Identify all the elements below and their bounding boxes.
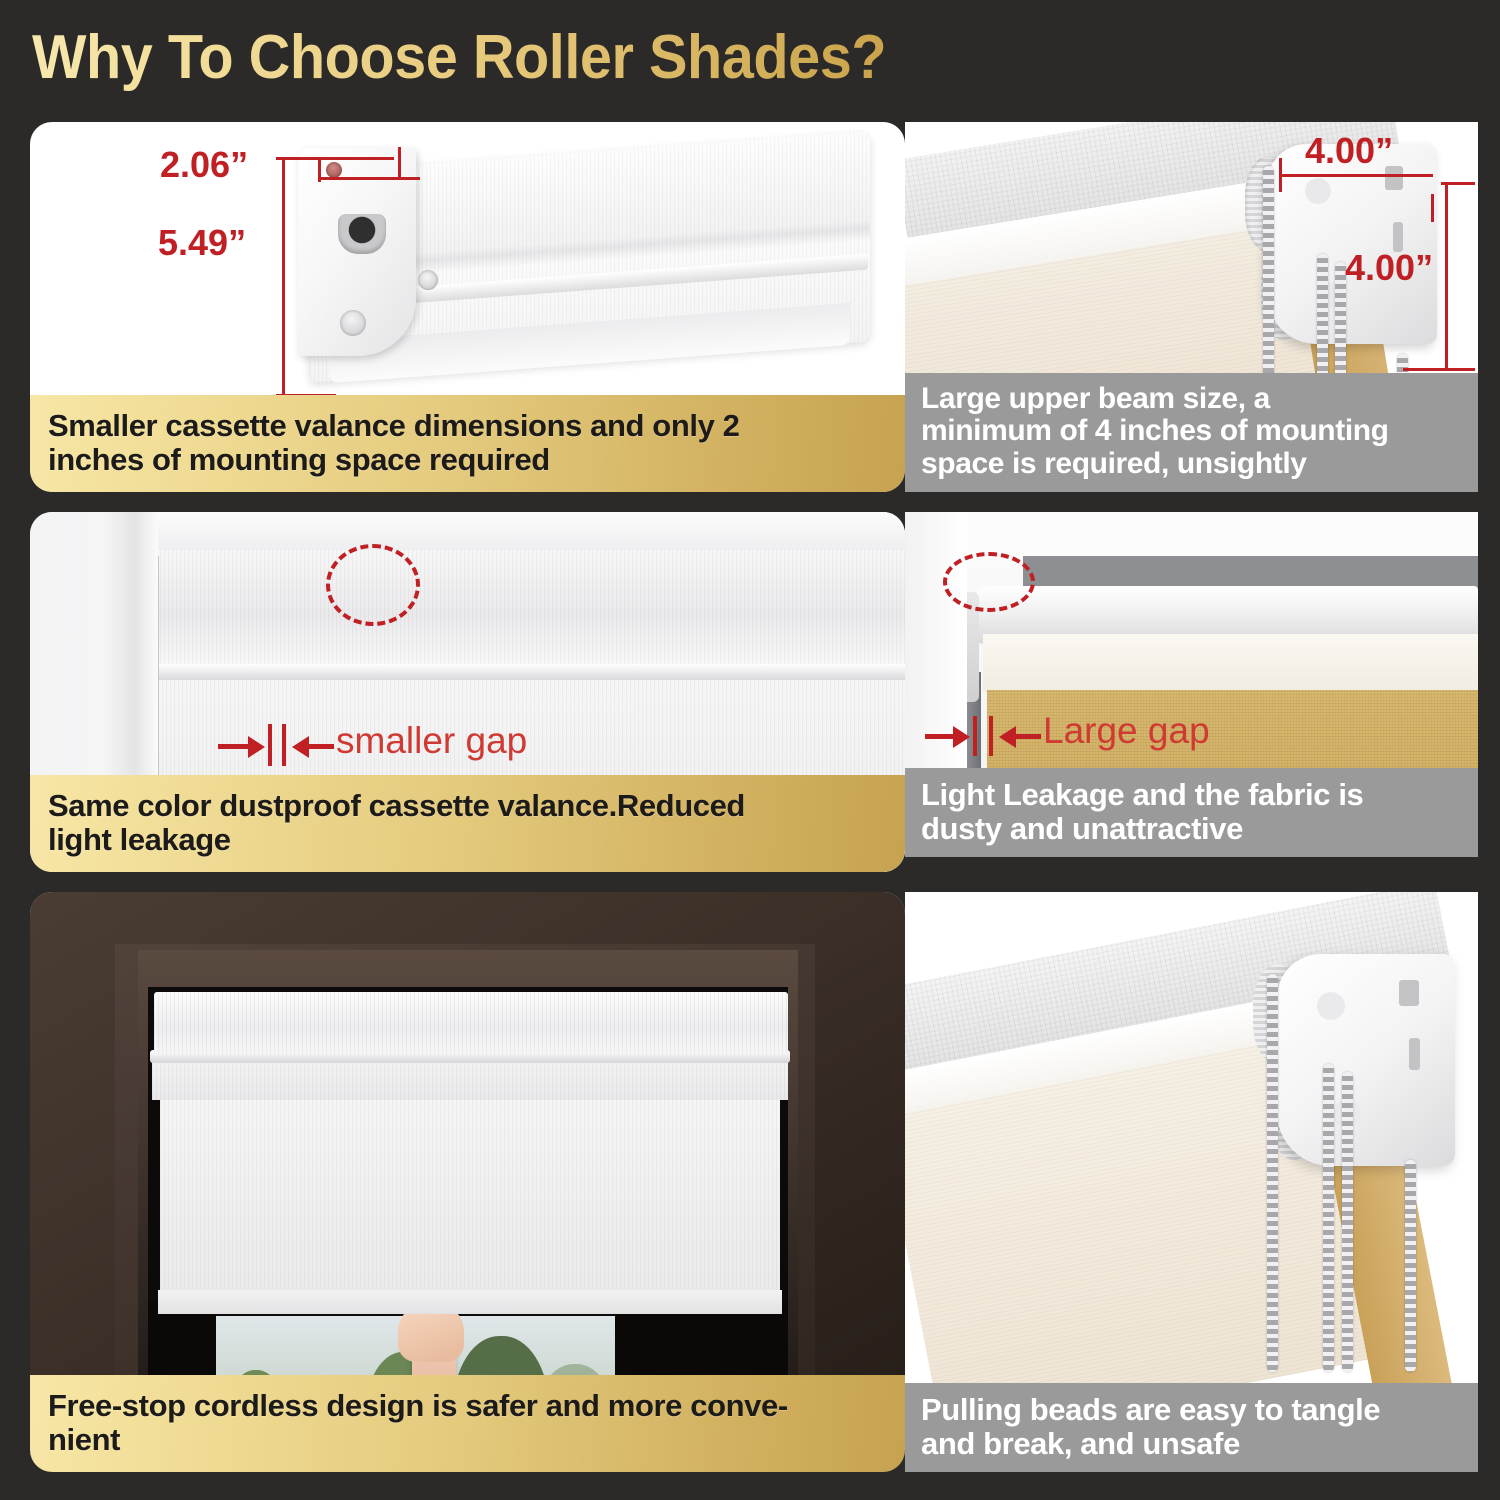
gap-arrow-left-head — [953, 726, 970, 748]
caption-line-1: Large upper beam size, a — [921, 383, 1462, 415]
large-gap-label: Large gap — [1043, 710, 1210, 752]
panel-pulling-beads-unsafe: Pulling beads are easy to tangle and bre… — [905, 892, 1478, 1472]
bracket-hub-1 — [1305, 178, 1331, 204]
cassette-lower-band — [152, 1060, 788, 1100]
caption-line-3: space is required, unsightly — [921, 448, 1462, 480]
gap-arrow-right-head — [292, 736, 309, 758]
width-guide-line — [318, 177, 420, 180]
caption-bar-gray: Large upper beam size, a minimum of 4 in… — [905, 373, 1478, 492]
caption-line-2: dusty and unattractive — [921, 812, 1462, 845]
width-dimension-label: 2.06” — [160, 144, 248, 186]
caption-line-1: Light Leakage and the fabric is — [921, 778, 1462, 811]
bracket-slot-1 — [1399, 980, 1419, 1006]
gap-tick-b — [989, 716, 993, 756]
caption-bar-gold: Same color dustproof cassette valance.Re… — [30, 775, 905, 872]
caption-line-1: Pulling beads are easy to tangle — [921, 1393, 1462, 1426]
valance-screw-lower — [340, 310, 366, 336]
beam-width-right-tick — [1431, 194, 1434, 222]
highlight-dashed-circle — [326, 544, 420, 626]
fabric-white-band — [983, 634, 1478, 692]
beam-height-top-tick — [1441, 182, 1475, 185]
caption-line-2: and break, and unsafe — [921, 1427, 1462, 1460]
beam-height-line — [1445, 182, 1448, 370]
gap-tick-b — [282, 724, 286, 766]
page-title: Why To Choose Roller Shades? — [32, 22, 886, 93]
cassette-valance — [154, 992, 788, 1054]
smaller-gap-label: smaller gap — [336, 720, 527, 762]
gap-arrow-left-shaft — [218, 744, 252, 749]
caption-line-2: light leakage — [48, 823, 887, 856]
gap-arrow-right-shaft — [1015, 734, 1041, 739]
highlight-dashed-circle — [943, 552, 1035, 612]
window-frame-top — [148, 512, 905, 554]
panel-free-stop-cordless-design: Free-stop cordless design is safer and m… — [30, 892, 905, 1472]
bracket-hub-1 — [1317, 992, 1345, 1020]
caption-bar-gray: Light Leakage and the fabric is dusty an… — [905, 768, 1478, 857]
caption-line-2: inches of mounting space required — [48, 443, 887, 476]
caption-line-1: Same color dustproof cassette valance.Re… — [48, 789, 887, 822]
gap-arrow-right-shaft — [308, 744, 334, 749]
panel-dustproof-cassette-valance: smaller gap Same color dustproof cassett… — [30, 512, 905, 872]
gap-tick-a — [268, 724, 272, 766]
width-guide-right-tick — [398, 147, 401, 179]
caption-line-1: Smaller cassette valance dimensions and … — [48, 409, 887, 442]
bead-chain-2 — [1323, 1064, 1334, 1372]
valance-screw-mid — [418, 270, 438, 290]
gap-tick-a — [973, 716, 977, 756]
caption-line-1: Free-stop cordless design is safer and m… — [48, 1389, 887, 1422]
beam-width-label: 4.00” — [1305, 130, 1393, 172]
height-guide-line — [282, 157, 285, 397]
panel-light-leakage-dusty-fabric: Large gap Light Leakage and the fabric i… — [905, 512, 1478, 857]
caption-line-2: nient — [48, 1423, 887, 1456]
panel-cassette-valance-dimensions: 5.49” 2.06” Smaller cassette valance dim… — [30, 122, 905, 492]
valance-screw-top — [326, 162, 342, 178]
bead-chain-4 — [1405, 1160, 1416, 1372]
mounting-bracket — [1277, 954, 1455, 1166]
valance-mechanism-knob — [338, 214, 386, 254]
caption-bar-gray: Pulling beads are easy to tangle and bre… — [905, 1383, 1478, 1472]
shade-fabric — [160, 1100, 780, 1300]
cassette-valance — [156, 550, 905, 668]
bead-chain-3 — [1342, 1072, 1353, 1372]
panel-large-upper-beam: 4.00” 4.00” Large upper beam size, a min… — [905, 122, 1478, 492]
beam-height-label: 4.00” — [1345, 247, 1433, 289]
bracket-slot-2 — [1409, 1038, 1420, 1070]
height-guide-top-tick — [276, 157, 394, 160]
bottom-rail — [158, 1290, 782, 1314]
infographic-root: Why To Choose Roller Shades? 5.49” 2.06”… — [0, 0, 1500, 1500]
gap-arrow-left-head — [248, 736, 265, 758]
caption-line-2: minimum of 4 inches of mounting — [921, 415, 1462, 447]
cassette-lip — [154, 664, 905, 680]
bead-chain-1 — [1267, 974, 1278, 1372]
caption-bar-gold: Free-stop cordless design is safer and m… — [30, 1375, 905, 1472]
gap-arrow-right-head — [999, 726, 1016, 748]
caption-bar-gold: Smaller cassette valance dimensions and … — [30, 395, 905, 492]
beam-width-line — [1281, 174, 1433, 177]
height-dimension-label: 5.49” — [158, 222, 246, 264]
beam-height-bottom-tick — [1403, 368, 1475, 371]
